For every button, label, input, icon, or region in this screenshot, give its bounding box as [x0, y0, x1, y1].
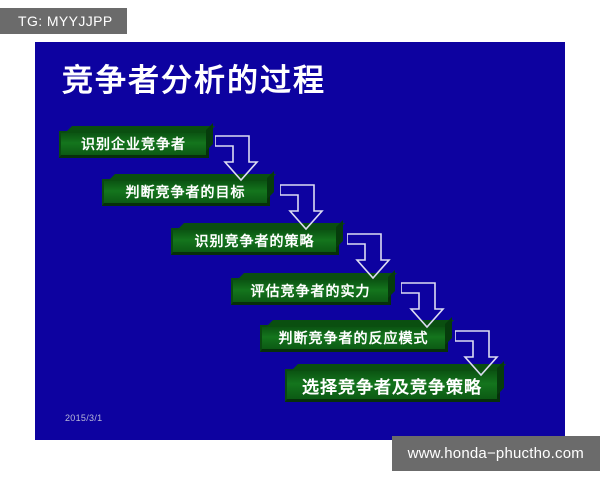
- flow-step-label: 选择竞争者及竞争策略: [302, 373, 482, 398]
- slide-date: 2015/3/1: [65, 413, 102, 423]
- status-badge: TG: MYYJJPP: [0, 8, 127, 34]
- page-title: 竞争者分析的过程: [62, 65, 326, 96]
- flow-arrow-down-icon: [401, 281, 461, 333]
- flow-step-box[interactable]: 识别企业竞争者: [59, 131, 209, 158]
- flow-arrow-down-icon: [347, 232, 407, 284]
- flow-step-box[interactable]: 选择竞争者及竞争策略: [285, 369, 500, 402]
- document-page: 竞争者分析的过程 识别企业竞争者 判断竞争者的目标 识别竞争者的策略 评估竞争者…: [0, 0, 600, 480]
- flow-arrow-down-icon: [215, 134, 275, 186]
- presentation-slide: 竞争者分析的过程 识别企业竞争者 判断竞争者的目标 识别竞争者的策略 评估竞争者…: [35, 42, 565, 440]
- flow-step-label: 识别竞争者的策略: [195, 231, 315, 251]
- flow-step-box[interactable]: 判断竞争者的目标: [102, 179, 270, 206]
- flow-step-label: 判断竞争者的目标: [126, 182, 246, 202]
- flow-step-label: 评估竞争者的实力: [251, 281, 371, 301]
- flow-step-label: 判断竞争者的反应模式: [279, 328, 429, 348]
- flow-step-label: 识别企业竞争者: [81, 134, 186, 154]
- flow-step-box[interactable]: 评估竞争者的实力: [231, 278, 391, 305]
- flow-step-box[interactable]: 识别竞争者的策略: [171, 228, 339, 255]
- watermark-label: www.honda−phuctho.com: [392, 436, 600, 471]
- flow-step-box[interactable]: 判断竞争者的反应模式: [260, 325, 448, 352]
- flow-arrow-down-icon: [280, 183, 340, 235]
